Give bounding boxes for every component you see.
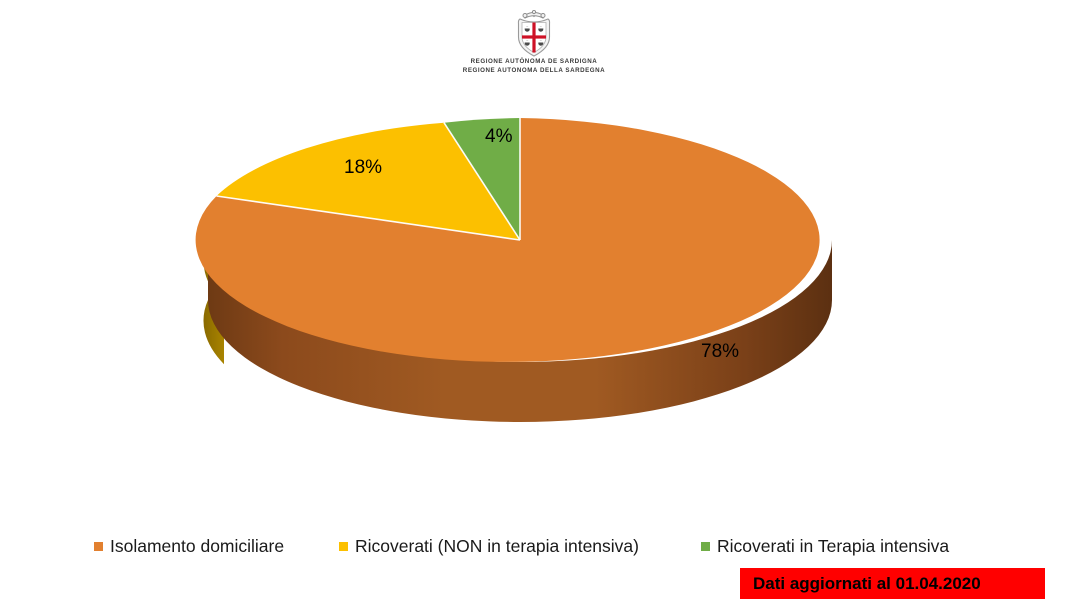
data-update-banner-text: Dati aggiornati al 01.04.2020 xyxy=(740,574,981,594)
legend-swatch-icon xyxy=(701,542,710,551)
pie-top-face xyxy=(196,118,820,362)
legend-item-label: Ricoverati in Terapia intensiva xyxy=(717,536,949,556)
data-update-banner: Dati aggiornati al 01.04.2020 xyxy=(740,568,1045,599)
legend-item-isolamento-domiciliare[interactable]: Isolamento domiciliare xyxy=(94,536,284,556)
legend-item-ricoverati-non-intensiva[interactable]: Ricoverati (NON in terapia intensiva) xyxy=(339,536,639,556)
data-label-ricoverati-non-intensiva: 18% xyxy=(344,157,382,179)
legend-item-label: Ricoverati (NON in terapia intensiva) xyxy=(355,536,639,556)
data-label-isolamento-domiciliare: 78% xyxy=(701,341,739,363)
legend-item-terapia-intensiva[interactable]: Ricoverati in Terapia intensiva xyxy=(701,536,949,556)
pie-chart: 78% 18% 4% Isolamento domiciliare Ricove… xyxy=(0,0,1068,609)
chart-legend: Isolamento domiciliare Ricoverati (NON i… xyxy=(0,534,1068,562)
legend-swatch-icon xyxy=(339,542,348,551)
pie-chart-svg xyxy=(0,0,1068,609)
legend-item-label: Isolamento domiciliare xyxy=(110,536,284,556)
legend-swatch-icon xyxy=(94,542,103,551)
data-label-terapia-intensiva: 4% xyxy=(485,126,512,148)
